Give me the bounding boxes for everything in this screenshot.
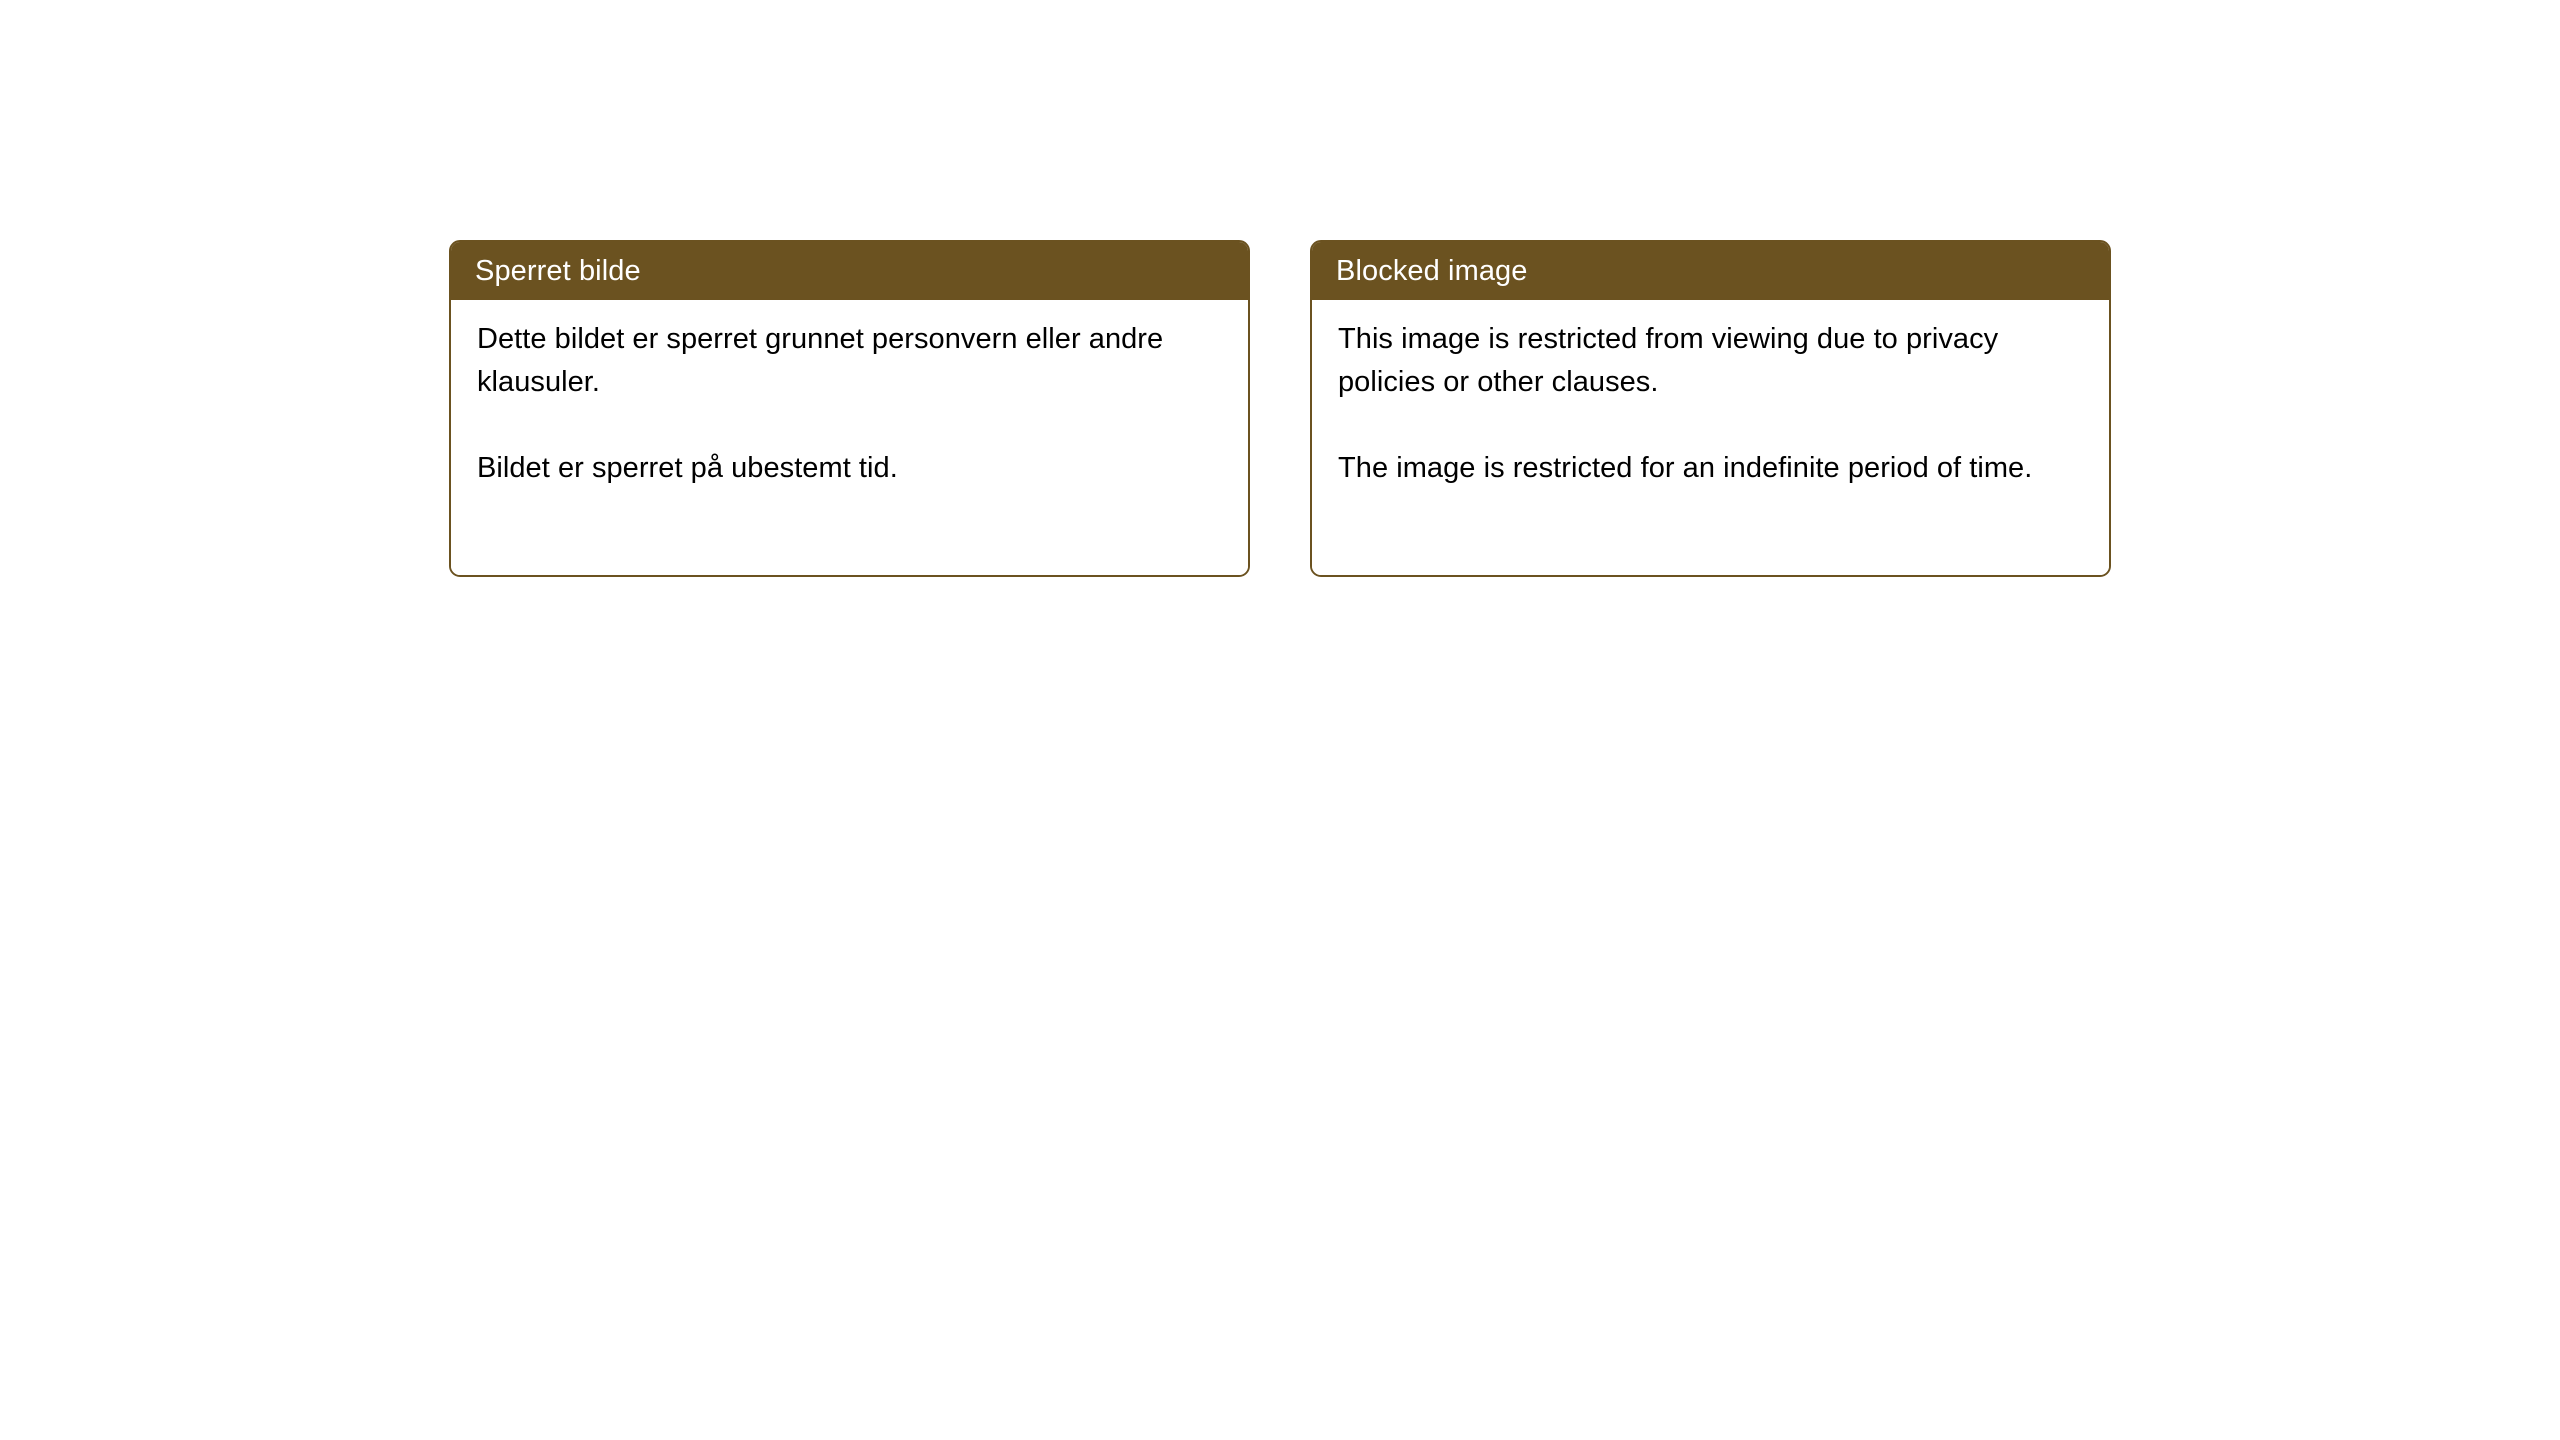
blocked-image-notice-card-norwegian: Sperret bilde Dette bildet er sperret gr…: [449, 240, 1250, 577]
card-title-norwegian: Sperret bilde: [475, 255, 641, 287]
card-paragraph-primary-english: This image is restricted from viewing du…: [1338, 318, 2079, 404]
card-header-english: Blocked image: [1312, 242, 2109, 300]
card-paragraph-secondary-norwegian: Bildet er sperret på ubestemt tid.: [477, 447, 1218, 490]
card-body-english: This image is restricted from viewing du…: [1312, 300, 2109, 575]
blocked-image-notice-card-english: Blocked image This image is restricted f…: [1310, 240, 2111, 577]
card-paragraph-primary-norwegian: Dette bildet er sperret grunnet personve…: [477, 318, 1218, 404]
page-canvas: Sperret bilde Dette bildet er sperret gr…: [0, 0, 2560, 1440]
card-header-norwegian: Sperret bilde: [451, 242, 1248, 300]
blocked-image-notice-group: Sperret bilde Dette bildet er sperret gr…: [449, 240, 2111, 577]
card-body-norwegian: Dette bildet er sperret grunnet personve…: [451, 300, 1248, 575]
card-paragraph-secondary-english: The image is restricted for an indefinit…: [1338, 447, 2079, 490]
card-title-english: Blocked image: [1336, 255, 1528, 287]
